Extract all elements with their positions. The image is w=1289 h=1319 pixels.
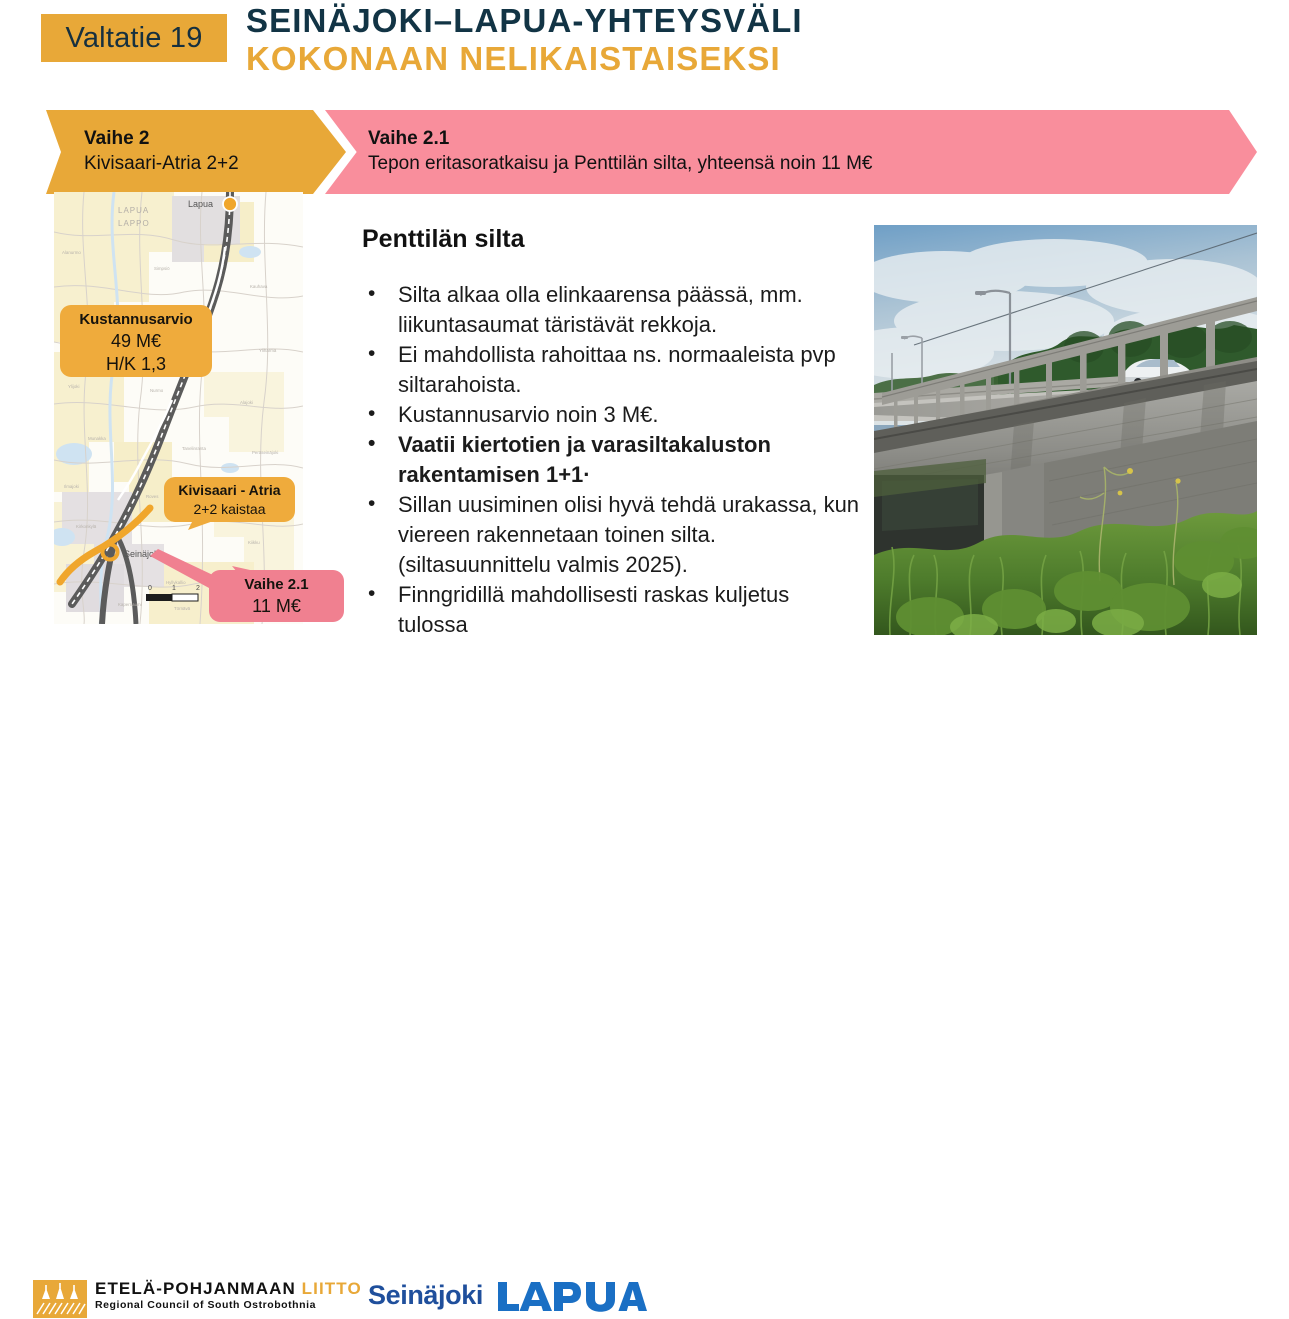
phase-banner-vaihe-2-1-title: Vaihe 2.1 <box>368 127 1257 151</box>
svg-text:1: 1 <box>172 585 176 592</box>
bullet-item: Vaatii kiertotien ja varasiltakaluston r… <box>362 430 862 490</box>
lapua-logo-suffix <box>585 1280 647 1314</box>
lapua-logo-graphic <box>496 1280 592 1314</box>
valtatie-badge: Valtatie 19 <box>41 14 227 62</box>
bullet-list: Silta alkaa olla elinkaarensa päässä, mm… <box>362 280 862 640</box>
svg-text:Kauhava: Kauhava <box>250 284 268 289</box>
bullet-item: Silta alkaa olla elinkaarensa päässä, mm… <box>362 280 862 340</box>
ep-name-gold: LIITTO <box>302 1279 362 1298</box>
bridge-photo-graphic <box>874 225 1257 635</box>
slide-footer: ETELÄ-POHJANMAAN LIITTO Regional Council… <box>0 636 1289 694</box>
svg-text:Alanurmo: Alanurmo <box>62 250 81 255</box>
phase-banner-vaihe-2: Vaihe 2 Kivisaari-Atria 2+2 <box>46 110 346 194</box>
svg-text:Munakka: Munakka <box>88 436 106 441</box>
ep-subtitle: Regional Council of South Ostrobothnia <box>95 1299 362 1312</box>
svg-text:Kiikku: Kiikku <box>248 540 260 545</box>
svg-text:Alajoki: Alajoki <box>240 400 253 405</box>
page-title: SEINÄJOKI–LAPUA-YHTEYSVÄLI KOKONAAN NELI… <box>246 2 803 78</box>
map-callout-kivisaari-atria-line-1: 2+2 kaistaa <box>164 500 295 519</box>
svg-text:Ylijoki: Ylijoki <box>68 384 79 389</box>
svg-text:Nurmo: Nurmo <box>150 388 164 393</box>
svg-text:Kapernaumi: Kapernaumi <box>118 602 142 607</box>
lapua-logo <box>496 1280 592 1319</box>
etela-pohjanmaa-emblem-icon <box>33 1280 87 1318</box>
route-map: LAPUA LAPPO Lapua Seinäjoki AlanurmoSimp… <box>54 192 303 624</box>
map-callout-kustannusarvio-line-1: 49 M€ <box>60 330 212 353</box>
svg-text:LAPPO: LAPPO <box>118 219 150 228</box>
phase-banner-vaihe-2-title: Vaihe 2 <box>84 127 346 151</box>
map-callout-vaihe-2-1: Vaihe 2.1 11 M€ <box>209 570 344 622</box>
svg-text:2: 2 <box>196 585 200 592</box>
bullet-item: Sillan uusiminen olisi hyvä tehdä urakas… <box>362 490 862 580</box>
svg-text:0: 0 <box>148 585 152 592</box>
bullet-item: Kustannusarvio noin 3 M€. <box>362 400 862 430</box>
bridge-photo <box>874 225 1257 635</box>
svg-text:Hyllykallio: Hyllykallio <box>166 580 186 585</box>
svg-text:Peräseinäjoki: Peräseinäjoki <box>252 450 278 455</box>
seinajoki-logo: Seinäjoki <box>368 1280 483 1311</box>
map-callout-vaihe-2-1-line-1: 11 M€ <box>209 595 344 618</box>
phase-banner-vaihe-2-subtitle: Kivisaari-Atria 2+2 <box>84 151 346 177</box>
map-graphic: LAPUA LAPPO Lapua Seinäjoki AlanurmoSimp… <box>54 192 303 624</box>
phase-banner-vaihe-2-1: Vaihe 2.1 Tepon eritasoratkaisu ja Pentt… <box>325 110 1257 194</box>
map-callout-kustannusarvio: Kustannusarvio 49 M€ H/K 1,3 <box>60 305 212 377</box>
valtatie-badge-label: Valtatie 19 <box>65 22 202 55</box>
bullet-item: Ei mahdollista rahoittaa ns. normaaleist… <box>362 340 862 400</box>
title-line-primary: SEINÄJOKI–LAPUA-YHTEYSVÄLI <box>246 2 803 40</box>
svg-text:Törnävä: Törnävä <box>174 606 191 611</box>
etela-pohjanmaa-wordmark: ETELÄ-POHJANMAAN LIITTO Regional Council… <box>95 1279 362 1312</box>
svg-text:Seinäjoki: Seinäjoki <box>124 549 161 559</box>
map-callout-kivisaari-atria: Kivisaari - Atria 2+2 kaistaa <box>164 477 295 522</box>
svg-text:Kirkonkylä: Kirkonkylä <box>76 524 97 529</box>
svg-text:Ilmajoki: Ilmajoki <box>64 484 79 489</box>
map-callout-kustannusarvio-title: Kustannusarvio <box>60 310 212 330</box>
map-callout-vaihe-2-1-title: Vaihe 2.1 <box>209 574 344 595</box>
phase-banner-vaihe-2-1-subtitle: Tepon eritasoratkaisu ja Penttilän silta… <box>368 151 1257 177</box>
phase-banner-row: Vaihe 2 Kivisaari-Atria 2+2 Vaihe 2.1 Te… <box>0 110 1289 194</box>
map-callout-kivisaari-atria-title: Kivisaari - Atria <box>164 480 295 500</box>
ep-name-dark: ETELÄ-POHJANMAAN <box>95 1279 296 1298</box>
content-column: Penttilän silta Silta alkaa olla elinkaa… <box>362 225 862 640</box>
content-heading: Penttilän silta <box>362 225 862 254</box>
map-callout-kustannusarvio-line-2: H/K 1,3 <box>60 353 212 376</box>
svg-text:LAPUA: LAPUA <box>118 206 149 215</box>
svg-text:Ylihärmä: Ylihärmä <box>259 348 277 353</box>
svg-text:Roves: Roves <box>146 494 159 499</box>
title-line-secondary: KOKONAAN NELIKAISTAISEKSI <box>246 40 803 78</box>
svg-text:Simpsiö: Simpsiö <box>154 266 170 271</box>
svg-text:Tanelinranta: Tanelinranta <box>182 446 206 451</box>
svg-text:Lapua: Lapua <box>188 199 213 209</box>
slide-header: Valtatie 19 SEINÄJOKI–LAPUA-YHTEYSVÄLI K… <box>0 0 1289 88</box>
bullet-item: Finngridillä mahdollisesti raskas kuljet… <box>362 580 862 640</box>
